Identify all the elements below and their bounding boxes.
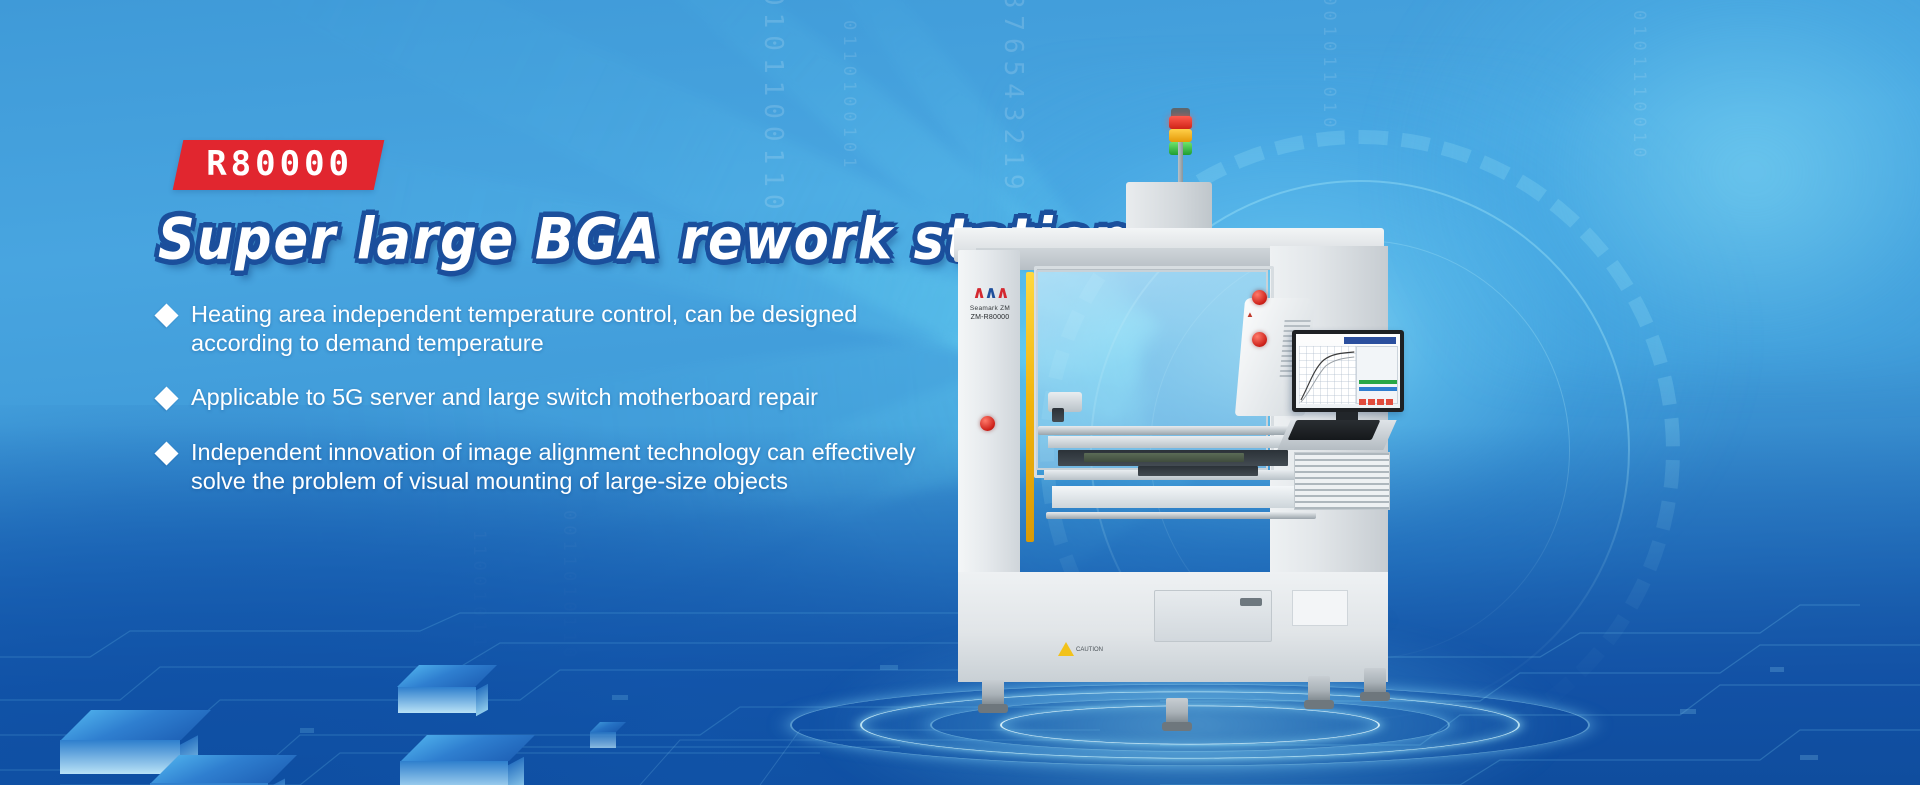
keyboard[interactable] — [1288, 420, 1381, 440]
model-badge-label: R80000 — [206, 147, 353, 181]
model-badge: R80000 — [173, 140, 384, 190]
brand-name: Seamark ZM — [966, 305, 1014, 312]
light-curtain — [1026, 272, 1034, 542]
pcb-green-board — [1084, 453, 1244, 462]
warning-label — [1058, 642, 1074, 657]
monitor-screen[interactable] — [1296, 334, 1400, 408]
machine-foot — [982, 680, 1004, 706]
list-item-label: Applicable to 5G server and large switch… — [191, 383, 818, 412]
product-banner: 0101100110 9876543219 0110100101 1001011… — [0, 0, 1920, 785]
diamond-bullet-icon — [154, 387, 178, 411]
signal-lamp-red-icon — [1169, 116, 1192, 129]
list-item-label: Independent innovation of image alignmen… — [191, 438, 961, 495]
temperature-profile-curve — [1299, 346, 1356, 404]
spec-plate — [1292, 590, 1348, 626]
action-buttons[interactable] — [1359, 399, 1397, 405]
emergency-stop-button-left[interactable] — [980, 416, 995, 431]
machine-body: ▲ ∧∧∧ Seamark ZM ZM-R80000 — [940, 120, 1410, 640]
support-plate — [1048, 436, 1298, 448]
machine-foot-pad — [978, 704, 1008, 713]
emergency-stop-button-top[interactable] — [1252, 290, 1267, 305]
diamond-bullet-icon — [154, 441, 178, 465]
feature-list: Heating area independent temperature con… — [158, 300, 1038, 521]
camera-lens — [1052, 408, 1064, 422]
list-item: Independent innovation of image alignmen… — [158, 438, 1038, 495]
signal-lamp-amber-icon — [1169, 129, 1192, 142]
machine-foot — [1308, 676, 1330, 702]
digit-stream: 1001011010 — [1320, 0, 1337, 132]
machine-foot — [1364, 668, 1386, 694]
pcb-board — [1138, 466, 1258, 476]
list-item: Heating area independent temperature con… — [158, 300, 1038, 357]
work-table — [1052, 486, 1296, 508]
door-handle[interactable] — [1240, 598, 1262, 606]
control-monitor — [1292, 330, 1404, 412]
machine-foot — [1166, 698, 1188, 724]
parameters-panel — [1356, 346, 1398, 404]
warning-label-text: CAUTION — [1076, 647, 1103, 653]
diamond-bullet-icon — [154, 303, 178, 327]
warning-triangle-icon — [1058, 642, 1074, 656]
machine-foot-pad — [1360, 692, 1390, 701]
list-item-label: Heating area independent temperature con… — [191, 300, 961, 357]
machine-foot-pad — [1304, 700, 1334, 709]
product-image: ▲ ∧∧∧ Seamark ZM ZM-R80000 — [940, 120, 1500, 740]
gantry-rail — [1046, 512, 1316, 519]
emergency-stop-button-mid[interactable] — [1252, 332, 1267, 347]
top-vent-housing — [1126, 182, 1212, 232]
machine-foot-pad — [1162, 722, 1192, 731]
list-item: Applicable to 5G server and large switch… — [158, 383, 1038, 412]
head-brand-mark: ▲ — [1246, 310, 1253, 319]
seamark-logo-icon: ∧∧∧ — [966, 285, 1014, 302]
brand-plate: ∧∧∧ Seamark ZM ZM-R80000 — [966, 285, 1014, 321]
cabinet-vent-grille — [1294, 452, 1390, 510]
progress-bar — [1359, 380, 1397, 384]
status-bar — [1359, 387, 1397, 391]
software-title-bar — [1344, 337, 1396, 344]
digit-stream: 0101110010 — [1630, 10, 1647, 162]
model-number: ZM-R80000 — [966, 314, 1014, 321]
